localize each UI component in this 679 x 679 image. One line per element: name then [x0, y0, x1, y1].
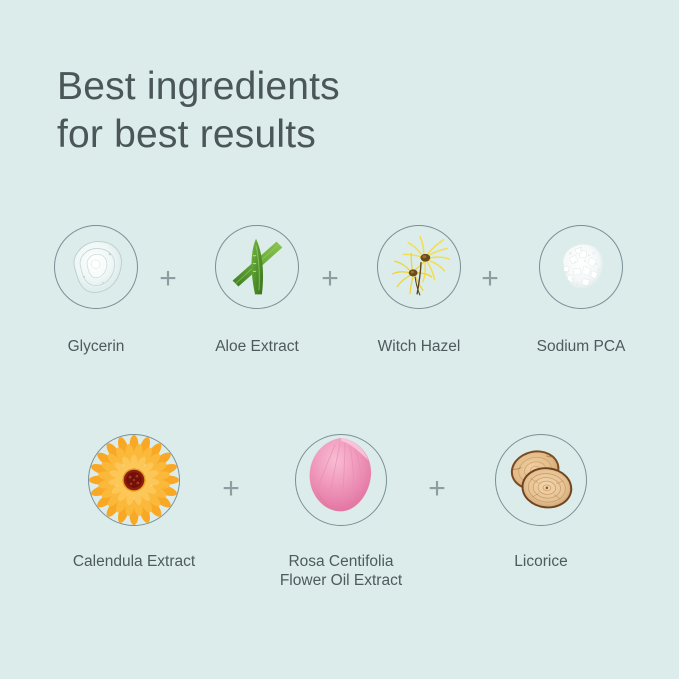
aloe-leaf-icon [216, 226, 298, 308]
witch-hazel-flower-icon [378, 226, 460, 308]
ingredient-label: Sodium PCA [476, 337, 679, 356]
ingredient-circle [539, 225, 623, 309]
ingredient-item-rosa-centifolia[interactable]: Rosa Centifolia Flower Oil Extract [251, 434, 431, 526]
ingredient-item-calendula-extract[interactable]: Calendula Extract [44, 434, 224, 526]
plus-separator: + [216, 474, 246, 504]
plus-separator: + [422, 474, 452, 504]
rose-petal-icon [296, 435, 386, 525]
ingredient-circle [495, 434, 587, 526]
ingredient-circle [295, 434, 387, 526]
ingredient-item-sodium-pca[interactable]: Sodium PCA [495, 225, 667, 309]
ingredient-circle [88, 434, 180, 526]
ingredient-label: Calendula Extract [29, 552, 239, 571]
sodium-pca-crystal-powder-icon [540, 226, 622, 308]
ingredient-circle [377, 225, 461, 309]
ingredients-infographic: Best ingredients for best results [0, 0, 679, 679]
licorice-root-slices-icon [496, 435, 586, 525]
ingredient-label: Rosa Centifolia Flower Oil Extract [236, 552, 446, 590]
ingredient-circle [215, 225, 299, 309]
page-title: Best ingredients for best results [57, 63, 577, 159]
ingredient-item-licorice[interactable]: Licorice [451, 434, 631, 526]
ingredient-circle [54, 225, 138, 309]
calendula-flower-icon [89, 435, 179, 525]
glycerin-gel-drop-icon [55, 226, 137, 308]
ingredient-label: Licorice [436, 552, 646, 571]
